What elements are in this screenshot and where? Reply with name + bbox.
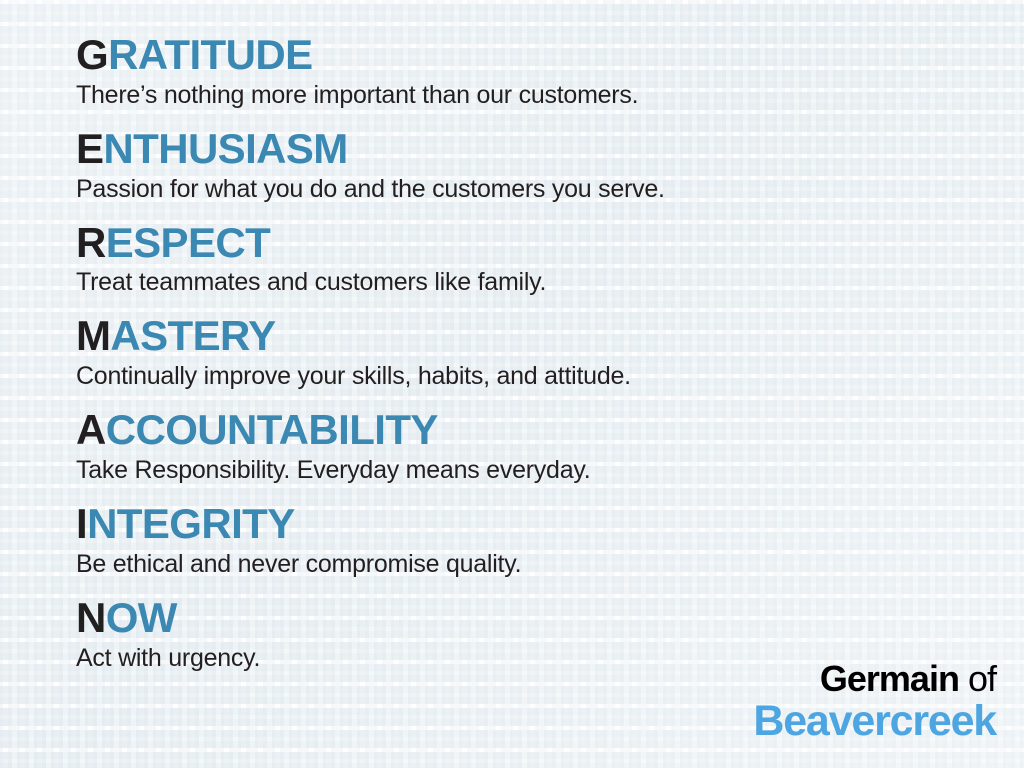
- logo-connector-word: of: [968, 658, 996, 699]
- value-initial-letter: I: [76, 500, 87, 547]
- value-initial-letter: G: [76, 31, 108, 78]
- value-initial-letter: N: [76, 594, 106, 641]
- value-item-accountability: ACCOUNTABILITY Take Responsibility. Ever…: [76, 409, 1024, 484]
- logo-top-line: Germain of: [753, 660, 996, 698]
- value-item-integrity: INTEGRITY Be ethical and never compromis…: [76, 503, 1024, 578]
- value-item-respect: RESPECT Treat teammates and customers li…: [76, 222, 1024, 297]
- logo-brand-name: Germain: [820, 658, 959, 699]
- value-word-enthusiasm: ENTHUSIASM: [76, 128, 1024, 171]
- value-word-remainder: ESPECT: [106, 219, 270, 266]
- value-word-remainder: ASTERY: [110, 312, 275, 359]
- value-word-remainder: OW: [106, 594, 177, 641]
- value-word-now: NOW: [76, 597, 1024, 640]
- value-word-remainder: NTEGRITY: [87, 500, 295, 547]
- value-description-accountability: Take Responsibility. Everyday means ever…: [76, 457, 1024, 484]
- value-word-gratitude: GRATITUDE: [76, 34, 1024, 77]
- value-initial-letter: A: [76, 406, 106, 453]
- dealer-logo: Germain of Beavercreek: [753, 660, 996, 744]
- core-values-poster: GRATITUDE There’s nothing more important…: [0, 0, 1024, 768]
- value-description-enthusiasm: Passion for what you do and the customer…: [76, 176, 1024, 203]
- values-list: GRATITUDE There’s nothing more important…: [0, 0, 1024, 768]
- value-word-accountability: ACCOUNTABILITY: [76, 409, 1024, 452]
- value-word-respect: RESPECT: [76, 222, 1024, 265]
- value-item-gratitude: GRATITUDE There’s nothing more important…: [76, 34, 1024, 109]
- value-description-gratitude: There’s nothing more important than our …: [76, 82, 1024, 109]
- value-item-enthusiasm: ENTHUSIASM Passion for what you do and t…: [76, 128, 1024, 203]
- value-initial-letter: R: [76, 219, 106, 266]
- value-word-mastery: MASTERY: [76, 315, 1024, 358]
- value-item-mastery: MASTERY Continually improve your skills,…: [76, 315, 1024, 390]
- value-word-remainder: RATITUDE: [108, 31, 312, 78]
- value-word-integrity: INTEGRITY: [76, 503, 1024, 546]
- value-description-respect: Treat teammates and customers like famil…: [76, 269, 1024, 296]
- logo-location-name: Beavercreek: [753, 699, 996, 744]
- value-word-remainder: CCOUNTABILITY: [106, 406, 438, 453]
- value-initial-letter: E: [76, 125, 103, 172]
- value-initial-letter: M: [76, 312, 110, 359]
- value-word-remainder: NTHUSIASM: [103, 125, 347, 172]
- value-description-integrity: Be ethical and never compromise quality.: [76, 551, 1024, 578]
- value-description-mastery: Continually improve your skills, habits,…: [76, 363, 1024, 390]
